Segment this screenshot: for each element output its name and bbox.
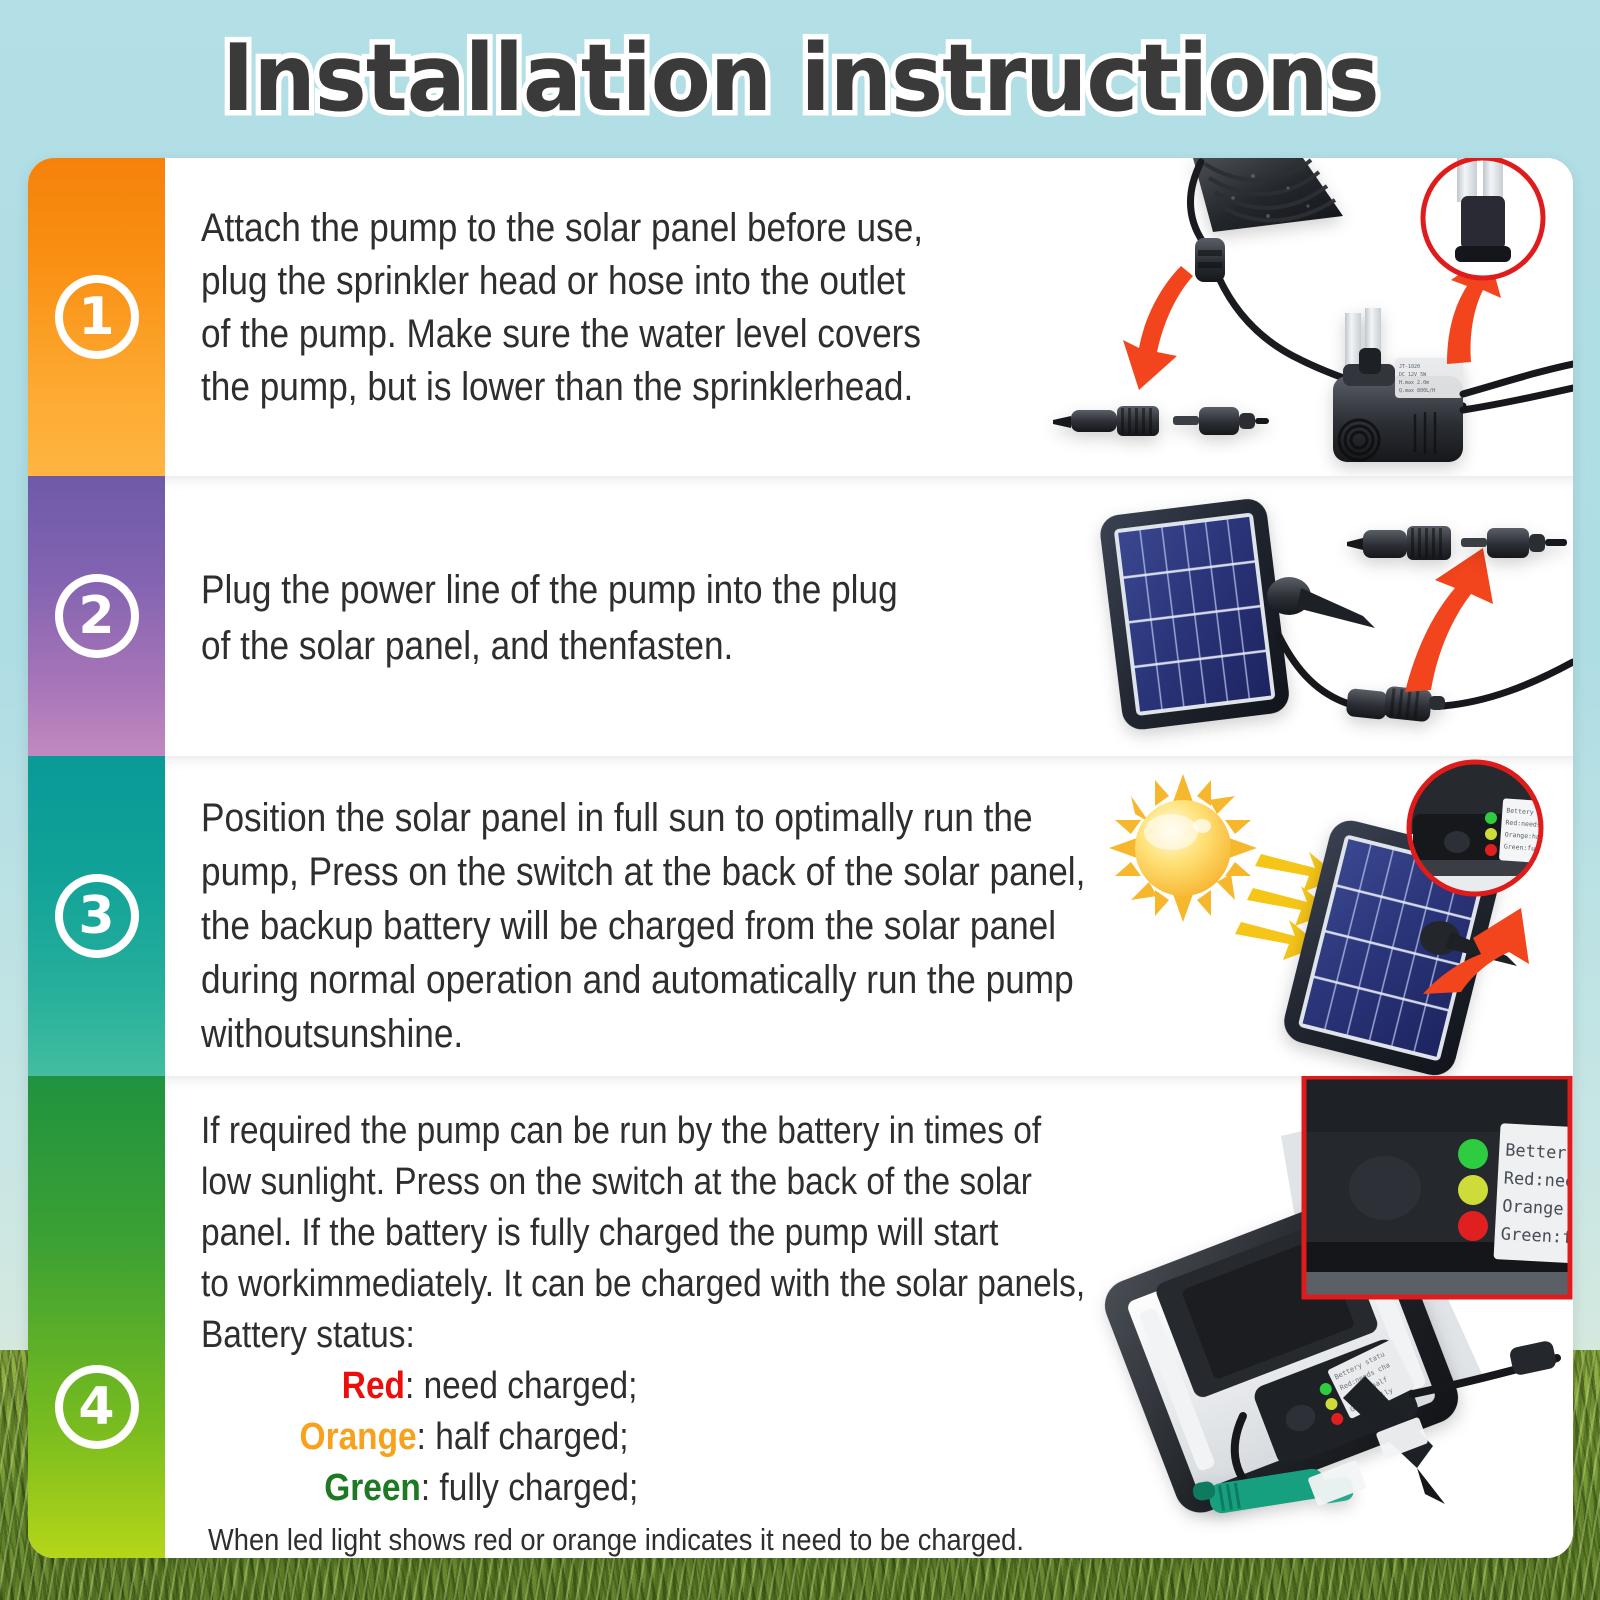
status-label-red: Red	[342, 1365, 405, 1407]
cable-joint-2	[1346, 686, 1445, 723]
outlet-detail-callout	[1423, 158, 1543, 278]
step-body-2: Plug the power line of the pump into the…	[165, 476, 1573, 756]
step-number-badge-1: 1	[55, 275, 139, 359]
step-row-2: 2 Plug the power line of the pump into t…	[28, 476, 1573, 756]
led-status-callout-3: Bettery statu Red:needs cha Orange:half …	[1405, 760, 1557, 896]
submersible-pump: JT-1020DC 12V 5W H.max 2.0mQ.max 800L/H	[1333, 308, 1463, 462]
step3-illustration: Bettery statu Red:needs cha Orange:half …	[1093, 756, 1573, 1076]
step-rail-4: 4	[28, 1076, 165, 1558]
status-row-orange: Orange: half charged;	[201, 1412, 1085, 1463]
step-row-4: 4 If required the pump can be run by the…	[28, 1076, 1573, 1558]
cable-joint	[1195, 238, 1225, 282]
step3-line-5: withoutsunshine.	[201, 1007, 1085, 1061]
step4-illustration: Bettery statu Red:needs cha Orange:half …	[1013, 1076, 1573, 1558]
step4-line-2: low sunlight. Press on the switch at the…	[201, 1157, 1085, 1208]
step3-line-2: pump, Press on the switch at the back of…	[201, 845, 1085, 899]
step2-line-2: of the solar panel, and thenfasten.	[201, 618, 898, 674]
svg-text:DC 12V 5W: DC 12V 5W	[1399, 372, 1427, 378]
dc-connector-female	[1053, 406, 1159, 436]
step3-line-4: during normal operation and automaticall…	[201, 953, 1085, 1007]
step1-line-2: plug the sprinkler head or hose into the…	[201, 255, 923, 308]
step1-illustration: JT-1020DC 12V 5W H.max 2.0mQ.max 800L/H	[1043, 158, 1573, 476]
status-text-orange: : half charged;	[417, 1416, 629, 1458]
dc-connector-female-2	[1347, 526, 1451, 560]
step-body-4: If required the pump can be run by the b…	[165, 1076, 1573, 1558]
svg-text:JT-1020: JT-1020	[1399, 364, 1420, 370]
step-row-3: 3 Position the solar panel in full sun t…	[28, 756, 1573, 1076]
title-bar: Installation instructions	[0, 18, 1600, 138]
step1-line-3: of the pump. Make sure the water level c…	[201, 308, 923, 361]
step4-line-5: Battery status:	[201, 1310, 1085, 1361]
step2-line-1: Plug the power line of the pump into the…	[201, 562, 898, 618]
led-status-callout-4: Bettery statu Red:needs cha Orange:half …	[1303, 1076, 1573, 1298]
instruction-card: 1 Attach the pump to the solar panel bef…	[28, 158, 1573, 1558]
solar-panel-2	[1098, 497, 1291, 732]
step-text-1: Attach the pump to the solar panel befor…	[201, 202, 923, 414]
step3-line-1: Position the solar panel in full sun to …	[201, 791, 1085, 845]
step-body-1: Attach the pump to the solar panel befor…	[165, 158, 1573, 476]
dc-connector-male	[1173, 407, 1269, 435]
red-arrow-up-2	[1405, 548, 1493, 692]
status-text-green: : fully charged;	[421, 1467, 638, 1509]
step-text-3: Position the solar panel in full sun to …	[201, 791, 1085, 1061]
step-number-badge-4: 4	[55, 1365, 139, 1449]
step4-line-4: to workimmediately. It can be charged wi…	[201, 1259, 1085, 1310]
panel-stake-2	[1267, 577, 1375, 628]
cable-coil	[1193, 158, 1343, 232]
step-rail-2: 2	[28, 476, 165, 756]
step4-line-3: panel. If the battery is fully charged t…	[201, 1208, 1085, 1259]
page-title: Installation instructions	[222, 18, 1379, 138]
step-row-1: 1 Attach the pump to the solar panel bef…	[28, 158, 1573, 476]
status-note: When led light shows red or orange indic…	[201, 1514, 1085, 1558]
status-row-green: Green: fully charged;	[201, 1463, 1085, 1514]
red-arrow-down	[1123, 266, 1193, 390]
svg-text:H.max 2.0m: H.max 2.0m	[1399, 380, 1429, 386]
step-text-4: If required the pump can be run by the b…	[201, 1106, 1085, 1558]
step-number-badge-2: 2	[55, 574, 139, 658]
status-row-red: Red: need charged;	[201, 1361, 1085, 1412]
step-text-2: Plug the power line of the pump into the…	[201, 562, 898, 674]
step3-line-3: the backup battery will be charged from …	[201, 899, 1085, 953]
step1-line-1: Attach the pump to the solar panel befor…	[201, 202, 923, 255]
step-rail-1: 1	[28, 158, 165, 476]
status-label-green: Green	[324, 1467, 421, 1509]
step-rail-3: 3	[28, 756, 165, 1076]
status-label-orange: Orange	[300, 1416, 417, 1458]
dc-connector-4	[1509, 1340, 1558, 1377]
step1-line-4: the pump, but is lower than the sprinkle…	[201, 361, 923, 414]
step-body-3: Position the solar panel in full sun to …	[165, 756, 1573, 1076]
sun-icon	[1109, 774, 1257, 922]
svg-text:Q.max 800L/H: Q.max 800L/H	[1399, 388, 1435, 394]
step4-line-1: If required the pump can be run by the b…	[201, 1106, 1085, 1157]
step-number-badge-3: 3	[55, 874, 139, 958]
step2-illustration	[1063, 476, 1573, 756]
status-text-red: : need charged;	[405, 1365, 637, 1407]
